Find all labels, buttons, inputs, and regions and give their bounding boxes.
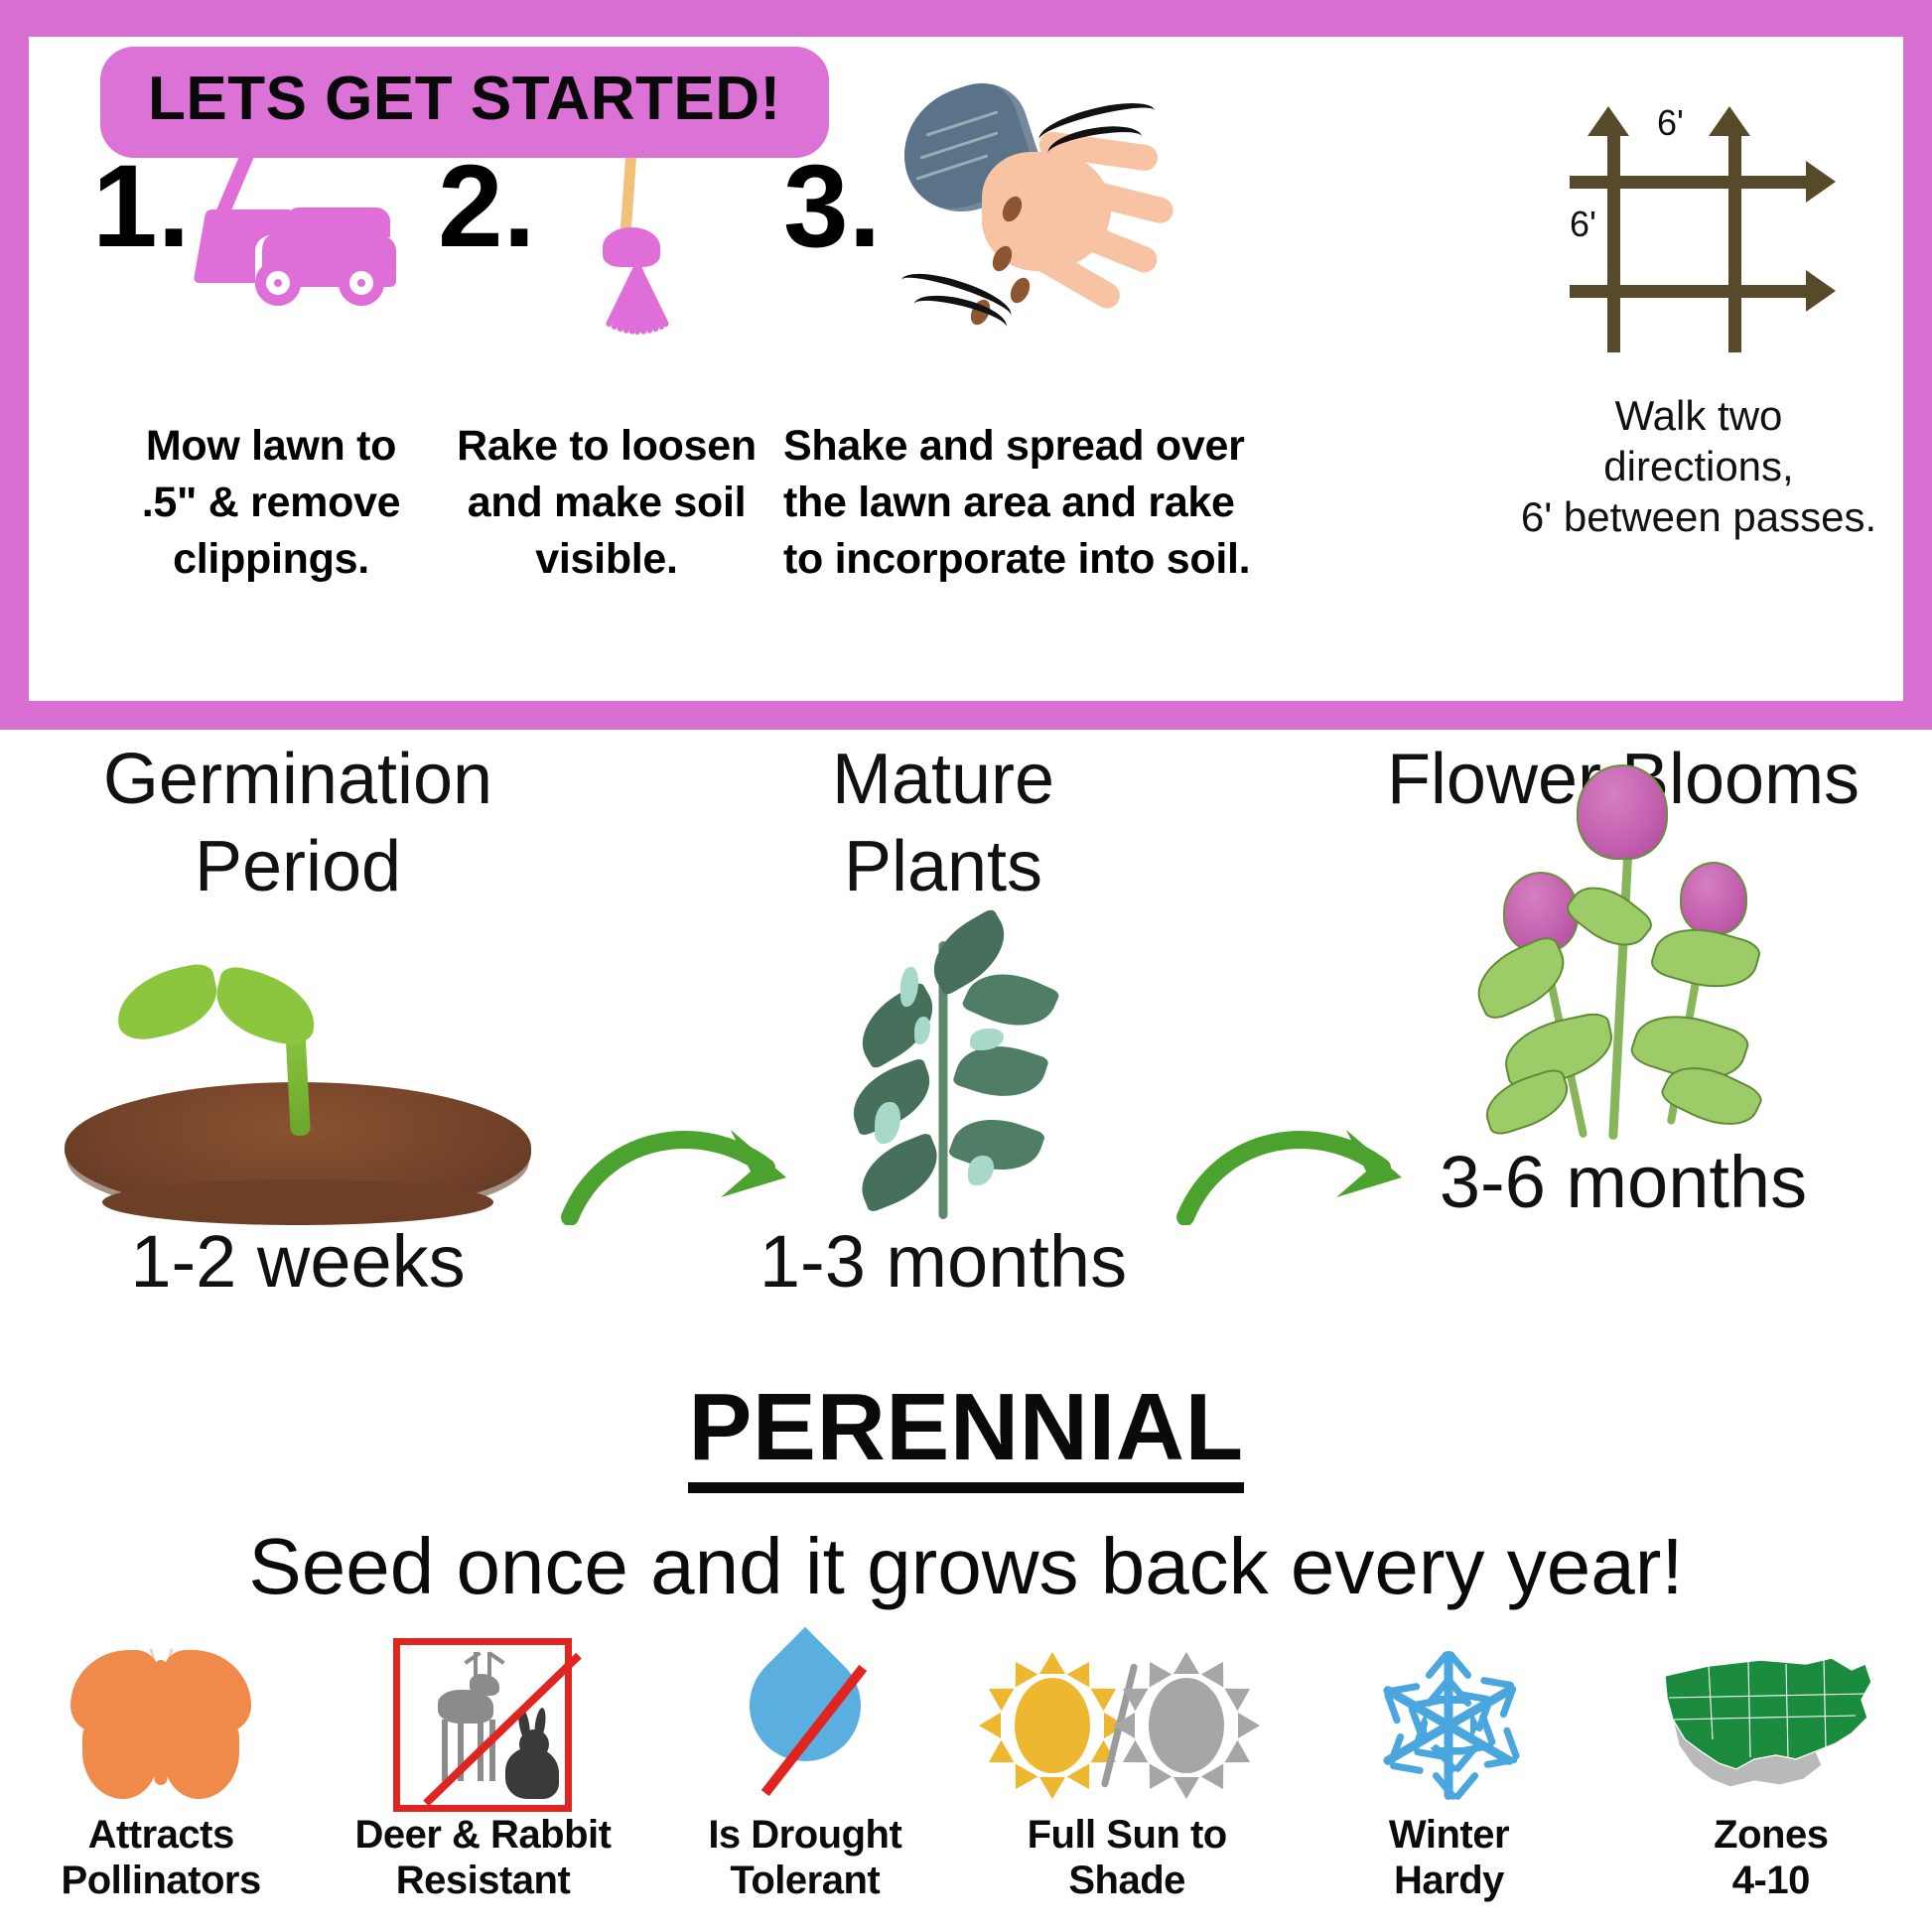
sun-ray	[1039, 1652, 1065, 1674]
feature-2-label-line-2: Tolerant	[656, 1858, 954, 1903]
walking-pattern-grid-icon: 6' 6'	[1570, 100, 1867, 388]
step-3: 3.	[783, 96, 1379, 587]
stage-blooms-duration: 3-6 months	[1330, 1140, 1916, 1224]
step-2-caption-line-1: Rake to loosen	[438, 418, 775, 475]
usa-map-svg	[1657, 1648, 1885, 1802]
stage-germination-title-line-2: Period	[20, 824, 576, 911]
stage-mature-title: Mature Plants	[695, 737, 1191, 911]
feature-drought-tolerant: Is Drought Tolerant	[656, 1638, 954, 1904]
feature-1-label-line-1: Deer & Rabbit	[334, 1812, 631, 1858]
step-1-number: 1.	[92, 148, 190, 265]
deer-rabbit-no-icon	[334, 1638, 631, 1812]
sun-ray	[1201, 1655, 1235, 1687]
feature-5-label-line-1: Zones	[1622, 1812, 1920, 1858]
feature-full-sun-to-shade: Full Sun to Shade	[978, 1638, 1276, 1904]
snowflake-icon	[1300, 1638, 1597, 1812]
walk-note-line-2: directions,	[1500, 441, 1897, 491]
step-2-caption-line-2: and make soil	[438, 475, 775, 531]
sun-ray	[1091, 1677, 1123, 1711]
lets-get-started-badge: LETS GET STARTED!	[100, 47, 829, 158]
step-2-number: 2.	[438, 148, 535, 265]
feature-deer-rabbit-resistant: Deer & Rabbit Resistant	[334, 1638, 631, 1904]
step-3-number: 3.	[783, 148, 881, 265]
walk-note-line-1: Walk two	[1500, 390, 1897, 441]
feature-zones: Zones 4-10	[1622, 1638, 1920, 1904]
feature-attracts-pollinators: Attracts Pollinators	[12, 1638, 310, 1904]
usa-map-icon	[1622, 1638, 1920, 1812]
stage-mature-title-line-2: Plants	[695, 824, 1191, 911]
sun-to-shade-icon	[978, 1638, 1276, 1812]
sun-ray	[1225, 1739, 1257, 1773]
stage-germination: Germination Period 1-2 weeks	[20, 737, 576, 1304]
shade-sun-icon	[1127, 1646, 1246, 1805]
perennial-subtitle: Seed once and it grows back every year!	[0, 1523, 1932, 1610]
sun-ray	[1139, 1763, 1173, 1795]
feature-1-label-line-2: Resistant	[334, 1858, 631, 1903]
feature-0-label-line-1: Attracts	[12, 1812, 310, 1858]
stage-germination-title: Germination Period	[20, 737, 576, 911]
sun-ray	[1005, 1763, 1038, 1795]
sun-ray	[1201, 1763, 1235, 1795]
sun-ray	[1113, 1713, 1135, 1738]
rabbit-silhouette-icon	[495, 1704, 559, 1799]
sun-ray	[1173, 1652, 1199, 1674]
stage-flower-blooms: Flower Blooms	[1330, 737, 1916, 1224]
step-2-caption-line-3: visible.	[438, 531, 775, 588]
step-1-caption: Mow lawn to .5" & remove clippings.	[92, 418, 450, 587]
sun-ray	[1067, 1655, 1101, 1687]
sun-ray	[1238, 1713, 1260, 1738]
step-2: 2. Rake to loosen and make soil vis	[438, 96, 775, 587]
step-3-caption-line-1: Shake and spread over	[783, 418, 1379, 475]
feature-2-label-line-1: Is Drought	[656, 1812, 954, 1858]
walk-note: Walk two directions, 6' between passes.	[1500, 390, 1897, 543]
step-1-caption-line-1: Mow lawn to	[92, 418, 450, 475]
seedling-in-soil-icon	[20, 911, 576, 1219]
snowflake-branch	[1387, 1682, 1422, 1695]
stage-mature-plants: Mature Plants	[695, 737, 1191, 1304]
sun-icon	[993, 1646, 1112, 1805]
growth-stages-row: Germination Period 1-2 weeks Mature Plan…	[0, 737, 1932, 1332]
feature-winter-hardy-label: Winter Hardy	[1300, 1812, 1597, 1904]
step-2-caption: Rake to loosen and make soil visible.	[438, 418, 775, 587]
feature-winter-hardy: Winter Hardy	[1300, 1638, 1597, 1904]
stage-germination-title-line-1: Germination	[20, 737, 576, 824]
perennial-section: PERENNIAL Seed once and it grows back ev…	[0, 1378, 1932, 1610]
sun-ray	[979, 1713, 1001, 1738]
step-1-caption-line-2: .5" & remove	[92, 475, 450, 531]
feature-5-label-line-2: 4-10	[1622, 1858, 1920, 1903]
stage-mature-title-line-1: Mature	[695, 737, 1191, 824]
sun-ray	[1117, 1739, 1149, 1773]
stage-mature-duration: 1-3 months	[695, 1219, 1191, 1304]
sun-ray	[1139, 1655, 1173, 1687]
walk-note-line-3: 6' between passes.	[1500, 491, 1897, 542]
hand-sowing-seeds-icon	[891, 86, 1218, 345]
feature-3-label-line-2: Shade	[978, 1858, 1276, 1903]
clover-bloom-icon	[1330, 753, 1916, 1140]
step-3-caption-line-2: the lawn area and rake	[783, 475, 1379, 531]
sun-ray	[1173, 1777, 1199, 1799]
sun-ray	[1225, 1677, 1257, 1711]
grid-left-label: 6'	[1570, 204, 1596, 245]
feature-4-label-line-1: Winter	[1300, 1812, 1597, 1858]
steps-row: 1.	[29, 96, 1903, 701]
stage-germination-duration: 1-2 weeks	[20, 1219, 576, 1304]
infographic-page: LETS GET STARTED! 1.	[0, 0, 1932, 1932]
step-3-caption: Shake and spread over the lawn area and …	[783, 418, 1379, 587]
step-1: 1.	[92, 96, 450, 587]
feature-attracts-pollinators-label: Attracts Pollinators	[12, 1812, 310, 1904]
snowflake-branch	[1480, 1676, 1515, 1689]
perennial-heading: PERENNIAL	[688, 1378, 1243, 1493]
snowflake-branch	[1453, 1770, 1480, 1801]
feature-deer-rabbit-label: Deer & Rabbit Resistant	[334, 1812, 631, 1904]
feature-4-label-line-2: Hardy	[1300, 1858, 1597, 1903]
feature-sun-shade-label: Full Sun to Shade	[978, 1812, 1276, 1904]
mature-plant-icon	[695, 911, 1191, 1219]
sun-ray	[1067, 1763, 1101, 1795]
feature-3-label-line-1: Full Sun to	[978, 1812, 1276, 1858]
feature-drought-label: Is Drought Tolerant	[656, 1812, 954, 1904]
snowflake-branch	[1390, 1761, 1425, 1774]
getting-started-panel: LETS GET STARTED! 1.	[0, 0, 1932, 730]
sun-ray	[1039, 1777, 1065, 1799]
butterfly-icon	[12, 1638, 310, 1812]
grid-top-label: 6'	[1657, 102, 1684, 144]
step-3-caption-line-3: to incorporate into soil.	[783, 531, 1379, 588]
water-droplet-no-icon	[656, 1638, 954, 1812]
sun-ray	[1005, 1655, 1038, 1687]
step-1-caption-line-3: clippings.	[92, 531, 450, 588]
feature-badges-row: Attracts Pollinators	[0, 1638, 1932, 1932]
sun-ray	[983, 1677, 1015, 1711]
sun-ray	[983, 1739, 1015, 1773]
lets-get-started-label: LETS GET STARTED!	[148, 69, 781, 130]
getting-started-panel-inner: LETS GET STARTED! 1.	[22, 30, 1910, 708]
feature-0-label-line-2: Pollinators	[12, 1858, 310, 1903]
feature-zones-label: Zones 4-10	[1622, 1812, 1920, 1904]
